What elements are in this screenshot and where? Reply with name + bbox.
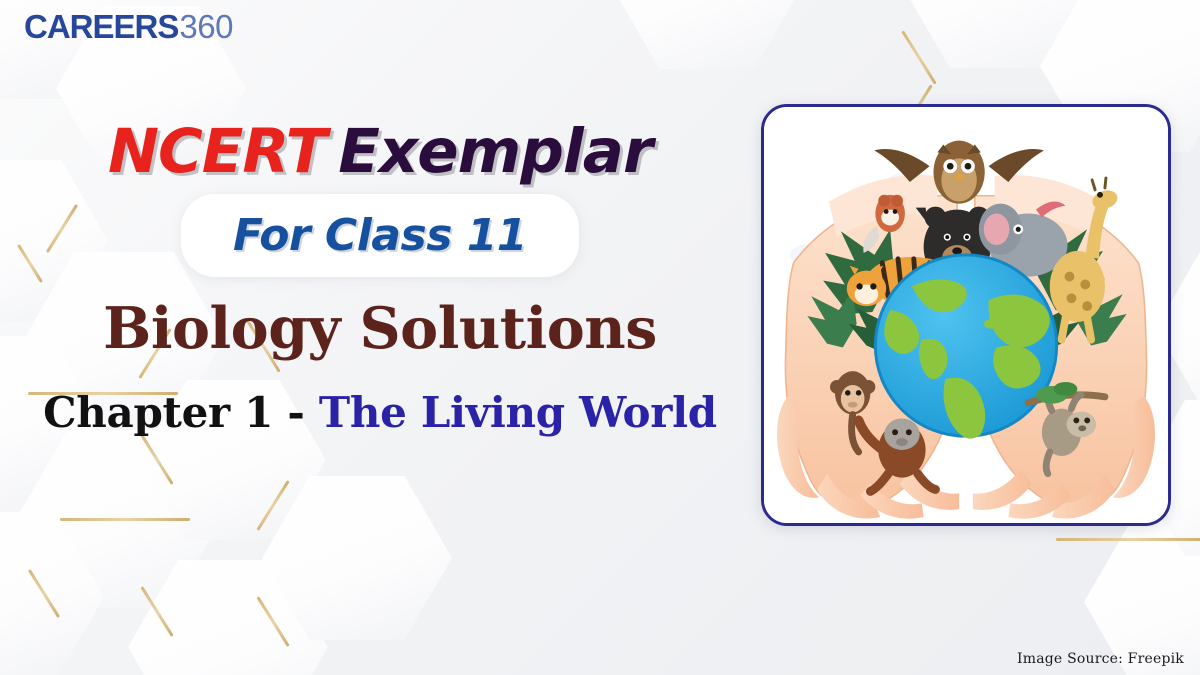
title-exemplar-word: Exemplar — [338, 116, 652, 187]
hexagon-shape — [612, 0, 802, 69]
accent-line — [28, 569, 60, 618]
illustration-frame — [761, 104, 1171, 526]
careers360-logo[interactable]: CAREERS360 — [24, 8, 233, 46]
class-badge: For Class 11 — [233, 210, 527, 261]
accent-line — [140, 434, 173, 485]
chapter-topic-label: The Living World — [319, 388, 717, 437]
hexagon-shape — [16, 430, 222, 608]
hexagon-shape — [0, 512, 104, 675]
accent-line — [256, 596, 289, 647]
accent-line — [60, 518, 190, 521]
accent-line — [140, 586, 173, 637]
earth-globe-icon — [875, 255, 1056, 439]
hexagon-shape — [128, 560, 328, 675]
banner-root: CAREERS360 NCERTExemplar For Class 11 Bi… — [0, 0, 1200, 675]
logo-360-text: 360 — [179, 8, 233, 46]
class-label: For Class 11 — [233, 210, 527, 261]
title-ncert: NCERT — [108, 116, 326, 187]
hexagon-shape — [900, 0, 1100, 68]
page-title: NCERTExemplar — [0, 120, 760, 184]
accent-line — [901, 30, 936, 84]
logo-careers-text: CAREERS — [24, 8, 178, 46]
chapter-number-label: Chapter 1 - — [43, 388, 319, 437]
hexagon-shape — [262, 476, 452, 640]
accent-line — [256, 480, 289, 531]
hands-holding-earth-illustration — [764, 107, 1168, 523]
headline-block: NCERTExemplar For Class 11 Biology Solut… — [0, 120, 760, 437]
subject-title: Biology Solutions — [0, 295, 760, 362]
image-source-credit: Image Source: Freepik — [1017, 651, 1184, 667]
chapter-title: Chapter 1 - The Living World — [0, 388, 760, 437]
accent-line — [1056, 538, 1200, 541]
